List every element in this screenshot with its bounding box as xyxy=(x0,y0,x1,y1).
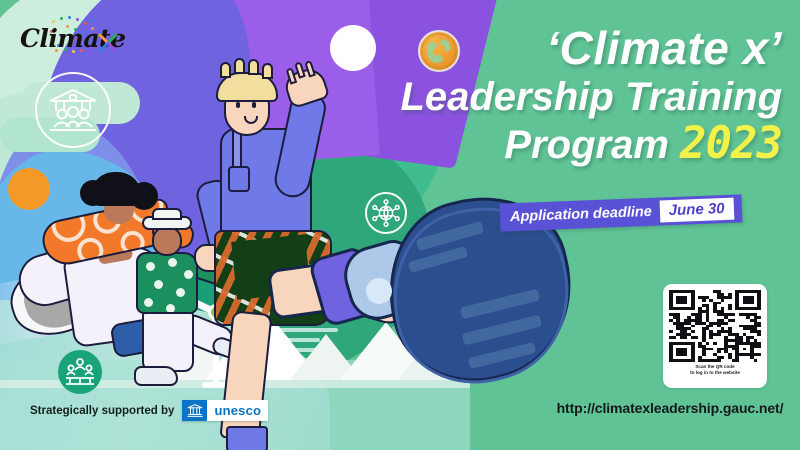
deadline-date: June 30 xyxy=(659,198,734,223)
hair-puff xyxy=(130,182,158,210)
shoe xyxy=(134,366,178,386)
front-leg xyxy=(219,310,272,441)
unesco-temple-icon xyxy=(182,400,207,421)
climate-x-logo[interactable]: Climate xyxy=(18,14,128,60)
green-top xyxy=(136,252,198,314)
website-url[interactable]: http://climatexleadership.gauc.net/ xyxy=(556,400,784,416)
museum-people-icon xyxy=(46,85,100,135)
support-label: Strategically supported by xyxy=(30,405,174,417)
headline-line-3: Program 2023 xyxy=(360,120,790,169)
badge-museum-education xyxy=(35,72,111,148)
unesco-wordmark: unesco xyxy=(207,400,268,421)
headline-block: ‘Climate x’ Leadership Training Program … xyxy=(360,22,790,169)
temple-icon xyxy=(186,403,204,418)
logo-x-mark xyxy=(98,32,118,52)
headline-line-1: ‘Climate x’ xyxy=(360,22,790,74)
program-word: Program xyxy=(504,123,669,167)
pants xyxy=(142,308,194,372)
climate-x-poster: Climate ‘Climate x’ Leadership Training … xyxy=(0,0,800,450)
year-2023: 2023 xyxy=(680,118,782,169)
support-row: Strategically supported by unesco xyxy=(30,400,268,421)
hat-crown xyxy=(152,208,182,220)
qr-caption-line-2: to log in to the website xyxy=(669,370,761,376)
headline-line-2: Leadership Training xyxy=(360,74,790,120)
qr-caption: Scan the QR code to log in to the websit… xyxy=(669,364,761,377)
face xyxy=(152,226,182,256)
unesco-logo[interactable]: unesco xyxy=(182,400,268,421)
pocket xyxy=(228,166,250,192)
qr-code[interactable] xyxy=(669,290,761,362)
qr-code-card[interactable]: Scan the QR code to log in to the websit… xyxy=(663,284,767,388)
shoe-highlight xyxy=(366,278,392,304)
front-sock xyxy=(226,426,268,450)
deadline-label: Application deadline xyxy=(510,204,652,225)
